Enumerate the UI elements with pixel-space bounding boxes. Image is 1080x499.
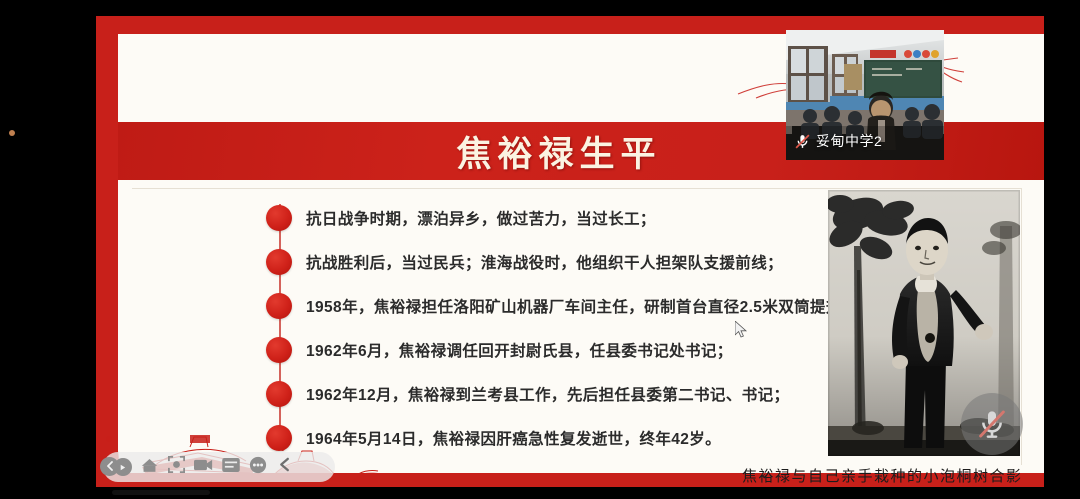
notes-icon — [222, 458, 240, 477]
screen-root: 焦裕禄生平 抗日战争时期，漂泊异乡，做过苦力，当过长工； 抗战胜利后，当过民兵；… — [0, 0, 1080, 499]
more-dots-icon — [249, 456, 267, 479]
list-item: 抗战胜利后，当过民兵；淮海战役时，他组织干人担架队支援前线； — [246, 240, 826, 284]
home-button[interactable] — [136, 454, 163, 481]
back-button[interactable] — [100, 457, 119, 476]
bullet-dot-icon — [266, 249, 292, 275]
webcam-label-bar: 妥甸中学2 — [786, 128, 944, 154]
chevron-left-icon — [279, 457, 291, 477]
letterbox-left — [0, 0, 96, 499]
list-item-text: 1962年6月，焦裕禄调任回开封尉氏县，任县委书记处书记； — [306, 339, 733, 361]
list-item: 1962年12月，焦裕禄到兰考县工作，先后担任县委第二书记、书记； — [246, 372, 826, 416]
participant-name: 妥甸中学2 — [816, 131, 882, 151]
letterbox-right — [1044, 0, 1080, 499]
bullet-dot-icon — [266, 381, 292, 407]
list-item: 抗日战争时期，漂泊异乡，做过苦力，当过长工； — [246, 196, 826, 240]
screenshot-icon — [168, 456, 185, 478]
video-button[interactable] — [190, 454, 217, 481]
video-camera-icon — [194, 458, 213, 477]
list-item-text: 1964年5月14日，焦裕禄因肝癌急性复发逝世，终年42岁。 — [306, 427, 721, 449]
list-item-text: 1962年12月，焦裕禄到兰考县工作，先后担任县委第二书记、书记； — [306, 383, 789, 405]
list-item-text: 1958年，焦裕禄担任洛阳矿山机器厂车间主任，研制首台直径2.5米双筒提升机； — [306, 295, 874, 317]
screenshot-button[interactable] — [163, 454, 190, 481]
bullet-dot-icon — [266, 337, 292, 363]
list-item-text: 抗战胜利后，当过民兵；淮海战役时，他组织干人担架队支援前线； — [306, 251, 783, 273]
list-item-text: 抗日战争时期，漂泊异乡，做过苦力，当过长工； — [306, 207, 656, 229]
photo-caption: 焦裕禄与自己亲手栽种的小泡桐树合影 — [742, 465, 1044, 486]
list-item: 1964年5月14日，焦裕禄因肝癌急性复发逝世，终年42岁。 — [246, 416, 826, 460]
webcam-thumbnail[interactable]: 妥甸中学2 — [786, 30, 944, 160]
mic-toggle-button[interactable] — [961, 393, 1023, 455]
notes-button[interactable] — [217, 454, 244, 481]
chevron-left-icon — [106, 458, 114, 476]
screen-artifact-dot — [9, 130, 15, 136]
bullet-dot-icon — [266, 205, 292, 231]
microphone-muted-icon — [976, 408, 1008, 440]
player-toolbar[interactable] — [103, 452, 335, 482]
scroll-indicator — [112, 490, 210, 495]
more-button[interactable] — [244, 454, 271, 481]
microphone-muted-icon — [794, 133, 811, 150]
bullet-dot-icon — [266, 425, 292, 451]
home-icon — [141, 457, 158, 478]
mouse-cursor-icon — [735, 321, 748, 339]
bullet-dot-icon — [266, 293, 292, 319]
slide-frame-left — [96, 16, 118, 487]
collapse-button[interactable] — [271, 454, 298, 481]
